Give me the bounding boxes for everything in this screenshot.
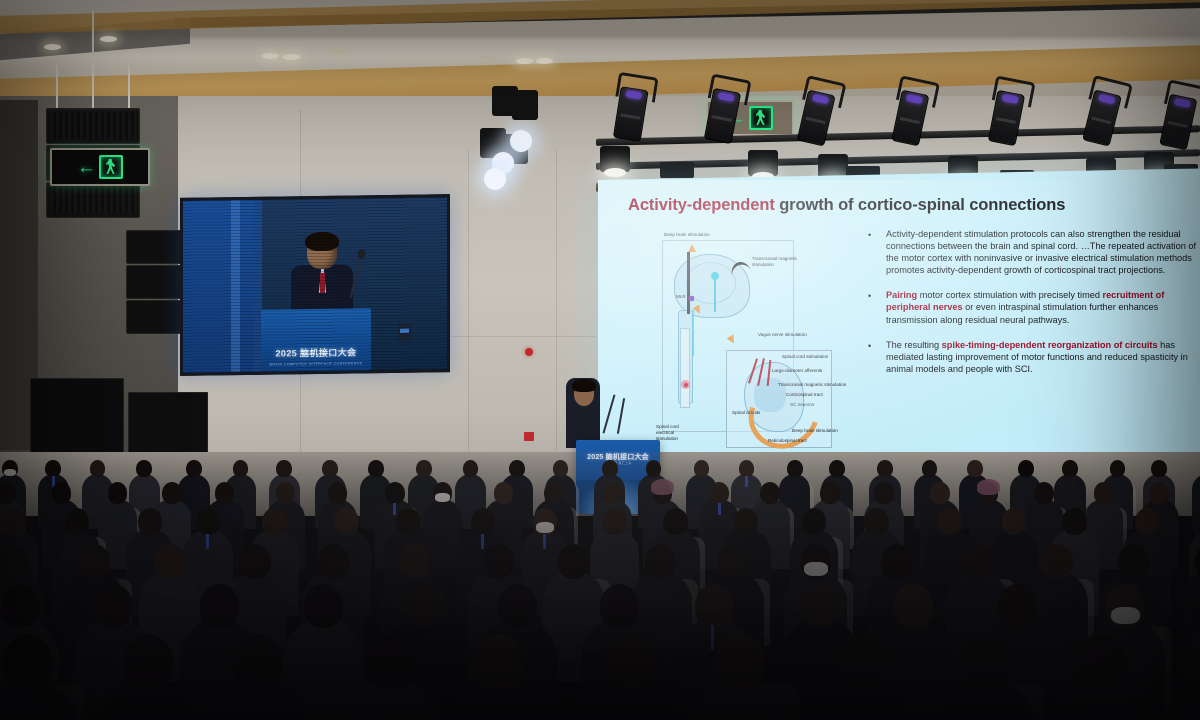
profile-spotlight (600, 146, 630, 172)
fire-alarm-light (525, 348, 533, 356)
diagram-label: Vagus nerve stimulation (758, 332, 812, 338)
profile-spotlight (748, 150, 778, 176)
stage-monitor-speaker (30, 378, 124, 458)
slide-bullet-text: The resulting spike-timing-dependent reo… (886, 340, 1188, 374)
main-projection-screen: Activity-dependent growth of cortico-spi… (598, 168, 1200, 490)
downlight (44, 44, 61, 50)
fire-call-point (524, 432, 534, 441)
stage-left-light-cluster-upper (492, 86, 542, 132)
diagram-label: Transcranial magnetic stimulation (752, 256, 810, 268)
wall-seam (468, 150, 469, 460)
spinal-cord-illustration (680, 328, 690, 408)
slide-bullet: • Pairing motor cortex stimulation with … (860, 289, 1200, 325)
diagram-label: Deep brain stimulation (792, 428, 838, 434)
slide-bullet-list: • Activity-dependent stimulation protoco… (860, 228, 1200, 388)
fresnel-light (660, 162, 694, 178)
stage-left-light-cluster (480, 128, 550, 190)
downlight (330, 48, 347, 54)
presenter-hair (572, 379, 596, 392)
downlight (478, 56, 495, 62)
diagram-label: Transcranial magnetic stimulation (778, 382, 846, 388)
slide-title: Activity-dependent growth of cortico-spi… (628, 196, 1200, 215)
bullet-dot-icon: • (868, 290, 871, 302)
side-led-monitor: 2025 脑机接口大会 BRAIN COMPUTER INTERFACE CON… (180, 194, 450, 376)
moving-head-light (1160, 80, 1199, 148)
spinal-stim-marker (681, 380, 690, 389)
running-man-icon (99, 155, 123, 179)
diagram-label: MLR (676, 294, 686, 300)
diagram-label: Reticulospinal tract (768, 438, 807, 444)
downlight (283, 54, 300, 60)
moving-head-light (704, 74, 742, 142)
slide-bullet-text: Activity-dependent stimulation protocols… (886, 229, 1196, 275)
downlight (516, 58, 533, 64)
wall-seam (446, 336, 596, 337)
diagram-label: Corticospinal tract (786, 392, 823, 398)
diagram-label: Deep brain stimulation (664, 232, 710, 238)
diagram-label: Spinal circuits (732, 410, 760, 416)
diagram-label: Spinal cord stimulation (782, 354, 828, 360)
exit-arrow-icon: ← (77, 158, 96, 177)
slide-title-rest: growth of cortico-spinal connections (775, 196, 1066, 214)
led-scanline-overlay (183, 197, 447, 373)
bullet-dot-icon: • (868, 340, 871, 352)
downlight (262, 53, 279, 59)
mlr-marker (689, 296, 694, 301)
slide-title-highlight: Activity-dependent (628, 196, 775, 214)
wall-seam (556, 150, 557, 450)
slide-bullet-text: Pairing motor cortex stimulation with pr… (886, 290, 1164, 324)
moving-head-light (613, 72, 649, 139)
bullet-dot-icon: • (868, 229, 871, 241)
downlight (100, 36, 117, 42)
dbs-electrode-icon (687, 252, 690, 314)
slide-bullet: • The resulting spike-timing-dependent r… (860, 339, 1200, 375)
downlight (536, 58, 553, 64)
slide-bullet: • Activity-dependent stimulation protoco… (860, 228, 1200, 276)
conference-hall-photo: ← ← (0, 0, 1200, 720)
stimulation-diagram: Deep brain stimulation Transcranial magn… (656, 232, 866, 458)
diagram-label: Spinal cord electrical stimulation (656, 424, 696, 442)
exit-sign-wall: ← (50, 148, 150, 186)
diagram-label: Large-diameter afferents (772, 368, 822, 374)
audience (0, 452, 1200, 720)
diagram-label: SC neurons (790, 402, 814, 408)
stage-monitor-speaker (128, 392, 208, 460)
